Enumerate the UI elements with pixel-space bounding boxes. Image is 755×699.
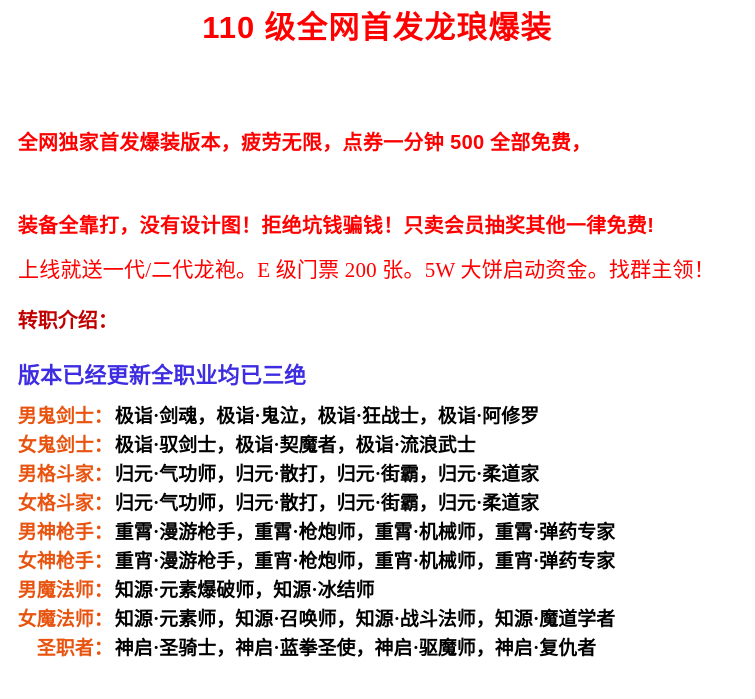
- class-label: 女鬼剑士: [18, 435, 94, 456]
- class-label: 男鬼剑士: [18, 406, 94, 427]
- class-row: 女魔法师：知源·元素师，知源·召唤师，知源·战斗法师，知源·魔道学者: [18, 605, 755, 634]
- class-colon: ：: [94, 464, 112, 485]
- class-list: 男鬼剑士：极诣·剑魂，极诣·鬼泣，极诣·狂战士，极诣·阿修罗 女鬼剑士：极诣·驭…: [18, 402, 755, 663]
- class-label: 男神枪手: [18, 522, 94, 543]
- class-colon: ：: [94, 493, 112, 514]
- class-row: 男神枪手：重霄·漫游枪手，重霄·枪炮师，重霄·机械师，重霄·弹药专家: [18, 518, 755, 547]
- class-row: 男鬼剑士：极诣·剑魂，极诣·鬼泣，极诣·狂战士，极诣·阿修罗: [18, 402, 755, 431]
- class-colon: ：: [94, 551, 112, 572]
- class-value: 知源·元素爆破师，知源·冰结师: [112, 580, 375, 601]
- class-value: 知源·元素师，知源·召唤师，知源·战斗法师，知源·魔道学者: [112, 609, 615, 630]
- class-row: 男魔法师：知源·元素爆破师，知源·冰结师: [18, 576, 755, 605]
- class-label: 女格斗家: [18, 493, 94, 514]
- class-row: 女鬼剑士：极诣·驭剑士，极诣·契魔者，极诣·流浪武士: [18, 431, 755, 460]
- promo-line-2: 装备全靠打，没有设计图！拒绝坑钱骗钱！只卖会员抽奖其他一律免费!: [18, 212, 753, 240]
- class-colon: ：: [94, 522, 112, 543]
- class-colon: ：: [94, 406, 112, 427]
- class-value: 重宵·漫游枪手，重宵·枪炮师，重宵·机械师，重宵·弹药专家: [112, 551, 615, 572]
- class-colon: ：: [94, 435, 112, 456]
- promo-line-3: 上线就送一代/二代龙袍。E 级门票 200 张。5W 大饼启动资金。找群主领！: [18, 256, 753, 284]
- page-title: 110 级全网首发龙琅爆装: [0, 8, 755, 48]
- promo-line-1: 全网独家首发爆装版本，疲劳无限，点券一分钟 500 全部免费，: [18, 129, 753, 157]
- class-label: 女神枪手: [18, 551, 94, 572]
- class-value: 重霄·漫游枪手，重霄·枪炮师，重霄·机械师，重霄·弹药专家: [112, 522, 615, 543]
- class-value: 极诣·驭剑士，极诣·契魔者，极诣·流浪武士: [112, 435, 476, 456]
- promo-poster: 110 级全网首发龙琅爆装 全网独家首发爆装版本，疲劳无限，点券一分钟 500 …: [0, 0, 755, 699]
- section-heading-job-change: 转职介绍：: [18, 308, 118, 334]
- class-row: 女神枪手：重宵·漫游枪手，重宵·枪炮师，重宵·机械师，重宵·弹药专家: [18, 547, 755, 576]
- class-row: 男格斗家：归元·气功师，归元·散打，归元·街霸，归元·柔道家: [18, 460, 755, 489]
- class-colon: ：: [94, 580, 112, 601]
- class-colon: ：: [94, 609, 112, 630]
- section-subheading-version-update: 版本已经更新全职业均已三绝: [18, 362, 307, 390]
- class-row: 女格斗家：归元·气功师，归元·散打，归元·街霸，归元·柔道家: [18, 489, 755, 518]
- class-value: 神启·圣骑士，神启·蓝拳圣使，神启·驱魔师，神启·复仇者: [112, 638, 596, 659]
- class-label: 男魔法师: [18, 580, 94, 601]
- class-label: 女魔法师: [18, 609, 94, 630]
- class-value: 归元·气功师，归元·散打，归元·街霸，归元·柔道家: [112, 464, 539, 485]
- class-value: 归元·气功师，归元·散打，归元·街霸，归元·柔道家: [112, 493, 539, 514]
- class-row: 圣职者：神启·圣骑士，神启·蓝拳圣使，神启·驱魔师，神启·复仇者: [18, 634, 755, 663]
- class-label: 圣职者: [37, 638, 94, 659]
- class-label: 男格斗家: [18, 464, 94, 485]
- class-colon: ：: [94, 638, 112, 659]
- class-value: 极诣·剑魂，极诣·鬼泣，极诣·狂战士，极诣·阿修罗: [112, 406, 539, 427]
